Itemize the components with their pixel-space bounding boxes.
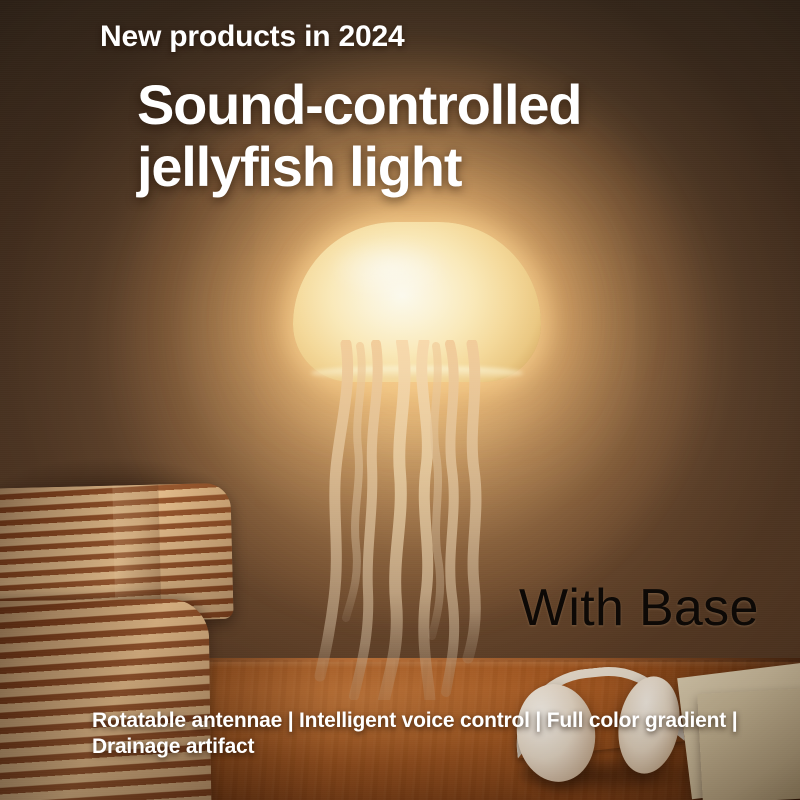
with-base-badge: With Base: [519, 578, 759, 638]
kicker-text: New products in 2024: [100, 20, 404, 54]
striped-pillow-lower: [0, 598, 211, 800]
headline-line-2: jellyfish light: [137, 136, 581, 198]
dome-specular-highlight: [329, 238, 449, 300]
page-title: Sound-controlled jellyfish light: [137, 74, 581, 197]
pillow-shading: [0, 598, 211, 800]
product-banner: New products in 2024 Sound-controlled je…: [0, 0, 800, 800]
feature-list-text: Rotatable antennae | Intelligent voice c…: [92, 708, 752, 761]
dome-bottom-rim: [311, 366, 523, 380]
headline-line-1: Sound-controlled: [137, 74, 581, 136]
jellyfish-lamp-dome: [293, 222, 541, 382]
